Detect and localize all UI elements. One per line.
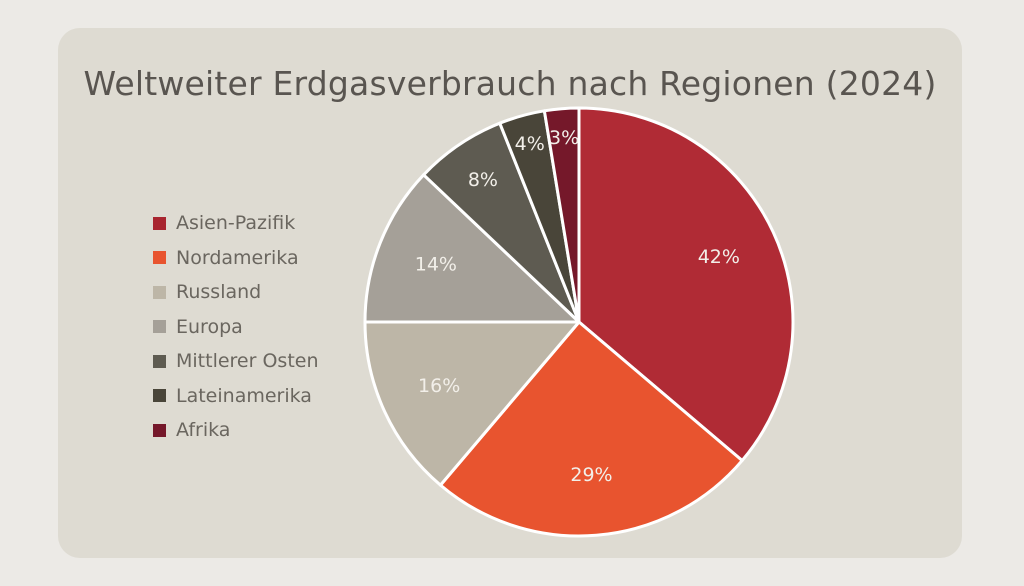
pie-slice-label: 42% — [698, 246, 740, 268]
legend-item[interactable]: Nordamerika — [153, 241, 383, 276]
pie-slice-label: 16% — [418, 375, 460, 397]
legend-item[interactable]: Afrika — [153, 413, 383, 448]
pie-slice-label: 14% — [415, 253, 457, 275]
chart-title: Weltweiter Erdgasverbrauch nach Regionen… — [58, 64, 962, 103]
legend-item-label: Asien-Pazifik — [176, 212, 295, 234]
pie-slice-label: 4% — [515, 133, 545, 155]
legend-item[interactable]: Asien-Pazifik — [153, 206, 383, 241]
pie-slice-label: 3% — [549, 127, 579, 149]
legend-item[interactable]: Russland — [153, 275, 383, 310]
chart-legend: Asien-PazifikNordamerikaRusslandEuropaMi… — [153, 206, 383, 448]
legend-item[interactable]: Europa — [153, 310, 383, 345]
legend-item[interactable]: Mittlerer Osten — [153, 344, 383, 379]
pie-chart: 42%29%16%14%8%4%3% — [365, 108, 793, 536]
legend-item-label: Russland — [176, 281, 261, 303]
legend-item-label: Mittlerer Osten — [176, 350, 319, 372]
legend-item-label: Europa — [176, 316, 243, 338]
legend-item-label: Nordamerika — [176, 247, 299, 269]
legend-swatch-icon — [153, 424, 166, 437]
legend-item[interactable]: Lateinamerika — [153, 379, 383, 414]
chart-card: Weltweiter Erdgasverbrauch nach Regionen… — [58, 28, 962, 558]
legend-swatch-icon — [153, 389, 166, 402]
legend-swatch-icon — [153, 217, 166, 230]
legend-swatch-icon — [153, 355, 166, 368]
chart-screenshot: Weltweiter Erdgasverbrauch nach Regionen… — [0, 0, 1024, 586]
pie-slice-label: 8% — [468, 169, 498, 191]
pie-chart-svg: 42%29%16%14%8%4%3% — [365, 108, 793, 536]
legend-item-label: Lateinamerika — [176, 385, 312, 407]
pie-slice-label: 29% — [570, 464, 612, 486]
legend-swatch-icon — [153, 320, 166, 333]
legend-swatch-icon — [153, 286, 166, 299]
legend-swatch-icon — [153, 251, 166, 264]
legend-item-label: Afrika — [176, 419, 230, 441]
